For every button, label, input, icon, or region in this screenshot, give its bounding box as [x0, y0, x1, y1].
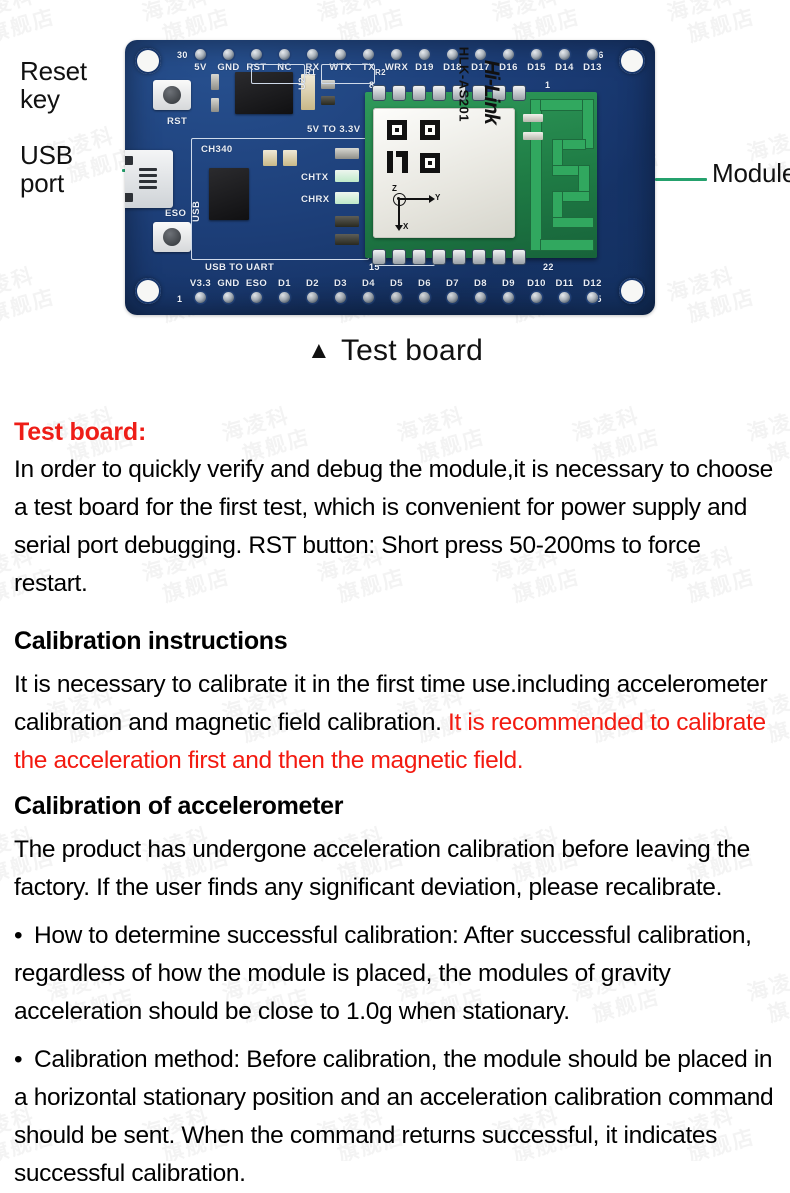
reset-button-rst[interactable] [153, 80, 191, 110]
module-part-number: HLK-AS201 [456, 47, 471, 122]
voltage-regulator-ic [235, 72, 293, 114]
pin-number-15: 15 [591, 294, 602, 304]
test-board-photo: Reset key USB port Module 30 16 1 15 5VG… [0, 0, 790, 325]
boot-button-eso[interactable] [153, 222, 191, 252]
module-pin [473, 86, 485, 100]
pin-label-eso: ESO [244, 278, 269, 289]
module-pin [433, 86, 445, 100]
module-component-2 [523, 132, 543, 140]
module-pin [393, 250, 405, 264]
pin-pad[interactable] [503, 292, 514, 303]
pin-label-rst: RST [244, 62, 269, 73]
module-pin [493, 86, 505, 100]
silk-label-eso: ESO [165, 208, 186, 219]
resistor-r8 [335, 216, 359, 227]
pin-pad[interactable] [223, 49, 234, 60]
resistor-r6 [321, 96, 335, 105]
bullet-text-2: Calibration method: Before calibration, … [14, 1046, 773, 1187]
pin-label-d4: D4 [356, 278, 381, 289]
pin-pad[interactable] [559, 49, 570, 60]
module-pin [373, 250, 385, 264]
silk-label-u2: U2 [297, 77, 308, 90]
callout-reset-key-line2: key [20, 86, 87, 114]
module-pin [413, 250, 425, 264]
pin-pad[interactable] [447, 292, 458, 303]
module-pin [413, 86, 425, 100]
pin-number-30: 30 [177, 50, 188, 60]
silk-label-state-led: STATE LED [437, 207, 448, 262]
hlk-as201-module: Hi-Link HLK-AS201 Y X Z [365, 92, 597, 258]
bullet-marker-2: • [14, 1041, 34, 1079]
bullet-text-1: How to determine successful calibration:… [14, 922, 752, 1025]
leader-line-module [655, 178, 707, 181]
silk-label-usb: USB [191, 201, 202, 222]
resistor-power [383, 128, 413, 139]
resistor-r9 [335, 234, 359, 245]
silk-label-chtx: CHTX [301, 172, 328, 183]
state-led-pin [447, 224, 457, 236]
pin-pad[interactable] [559, 292, 570, 303]
state-led-pin [447, 158, 457, 170]
silk-label-chrx: CHRX [301, 194, 330, 205]
axis-label-y: Y [435, 193, 440, 202]
silk-label-usb-to-uart: USB TO UART [205, 262, 274, 273]
pin-pad[interactable] [251, 292, 262, 303]
pin-label-wtx: WTX [328, 62, 353, 73]
axis-orientation-diagram: Y X Z [391, 184, 447, 230]
pin-label-d6: D6 [412, 278, 437, 289]
heading-test-board: Test board: [14, 418, 776, 447]
paragraph-calibration-instructions: It is necessary to calibrate it in the f… [14, 666, 776, 780]
pin-pad[interactable] [279, 292, 290, 303]
module-pin [513, 86, 525, 100]
callout-reset-key: Reset key [20, 58, 87, 113]
figure-caption-text: Test board [341, 334, 483, 367]
paragraph-test-board: In order to quickly verify and debug the… [14, 451, 776, 603]
silk-label-power: POWER [387, 96, 425, 107]
pin-pad[interactable] [363, 49, 374, 60]
module-pin [473, 250, 485, 264]
resistor-wifi [383, 184, 413, 195]
pin-label-gnd: GND [216, 278, 241, 289]
silk-label-sta: STA [393, 208, 413, 219]
led-chtx [335, 170, 359, 182]
axis-label-x: X [403, 222, 408, 231]
pin-label-d17: D17 [468, 62, 493, 73]
paragraph-accelerometer-intro: The product has undergone acceleration c… [14, 831, 776, 907]
led-chrx [335, 192, 359, 204]
pin-pad[interactable] [195, 49, 206, 60]
pin-pad[interactable] [587, 292, 598, 303]
pin-label-d19: D19 [412, 62, 437, 73]
module-pin-number-1: 1 [545, 80, 550, 90]
pcb-antenna [531, 100, 593, 250]
micro-usb-port[interactable] [125, 150, 173, 208]
mounting-hole-tl [135, 48, 161, 74]
pin-label-d9: D9 [496, 278, 521, 289]
callout-usb-port-line1: USB [20, 142, 73, 170]
pin-pad[interactable] [419, 292, 430, 303]
pin-pad[interactable] [335, 292, 346, 303]
callout-usb-port: USB port [20, 142, 73, 197]
pin-label-d1: D1 [272, 278, 297, 289]
pin-label-rx: RX [300, 62, 325, 73]
silk-label-wifi: WIFI [391, 152, 413, 163]
pin-label-d7: D7 [440, 278, 465, 289]
pin-pad[interactable] [307, 292, 318, 303]
pin-pad[interactable] [475, 292, 486, 303]
mounting-hole-br [619, 278, 645, 304]
pin-pad[interactable] [531, 292, 542, 303]
mounting-hole-bl [135, 278, 161, 304]
pin-pad[interactable] [363, 292, 374, 303]
module-pin [373, 86, 385, 100]
pin-number-16: 16 [593, 50, 604, 60]
pin-label-d2: D2 [300, 278, 325, 289]
bullet-item-1: •How to determine successful calibration… [14, 917, 776, 1031]
axis-label-z: Z [392, 184, 397, 193]
resistor-r5 [321, 80, 335, 89]
heading-calibration-instructions: Calibration instructions [14, 627, 776, 656]
pin-label-gnd: GND [216, 62, 241, 73]
pin-label-d10: D10 [524, 278, 549, 289]
module-pin-number-9: 9 [447, 96, 452, 106]
pin-label-nc: NC [272, 62, 297, 73]
pin-label-d14: D14 [552, 62, 577, 73]
pin-label-d15: D15 [524, 62, 549, 73]
resistor-r4 [211, 98, 219, 112]
module-pin [393, 86, 405, 100]
pin-label-5v: 5V [188, 62, 213, 73]
module-shield-can: Hi-Link HLK-AS201 Y X Z [373, 108, 515, 238]
callout-module: Module [712, 160, 790, 188]
module-component-1 [523, 114, 543, 122]
pcb-board: 30 16 1 15 5VGNDRSTNCRXWTXTXWRXD19D18D17… [125, 40, 655, 315]
led-sta [383, 224, 413, 236]
bullet-item-2: •Calibration method: Before calibration,… [14, 1041, 776, 1193]
capacitor-c1 [301, 74, 315, 110]
mounting-hole-tr [619, 48, 645, 74]
state-led-pin [447, 136, 457, 148]
pin-pad[interactable] [391, 292, 402, 303]
figure-caption: ▲Test board [0, 334, 790, 368]
pin-label-d8: D8 [468, 278, 493, 289]
module-pin-number-14: 14 [445, 226, 456, 236]
pin-pad[interactable] [223, 292, 234, 303]
module-pin [453, 250, 465, 264]
led-power [383, 112, 413, 124]
pin-label-d12: D12 [580, 278, 605, 289]
pin-label-d5: D5 [384, 278, 409, 289]
silk-label-r1: R1 [305, 68, 316, 77]
module-pin [433, 250, 445, 264]
product-manual-page: 海凌科旗舰店海凌科旗舰店海凌科旗舰店海凌科旗舰店海凌科旗舰店海凌科旗舰店海凌科旗… [0, 0, 790, 1161]
heading-calibration-of-accelerometer: Calibration of accelerometer [14, 792, 776, 821]
module-pin [453, 86, 465, 100]
module-pin-number-8: 8 [369, 80, 374, 90]
pin-label-d3: D3 [328, 278, 353, 289]
pin-pad[interactable] [447, 49, 458, 60]
pin-pad[interactable] [195, 292, 206, 303]
pin-pad[interactable] [503, 49, 514, 60]
state-led-pin [447, 114, 457, 126]
silk-label-r2: R2 [375, 68, 386, 77]
pin-pad[interactable] [587, 49, 598, 60]
pin-pad[interactable] [279, 49, 290, 60]
bullet-marker-1: • [14, 917, 34, 955]
capacitor-c3 [283, 150, 297, 166]
callout-usb-port-line2: port [20, 170, 73, 198]
led-wifi [383, 168, 413, 180]
capacitor-c2 [263, 150, 277, 166]
triangle-marker-icon: ▲ [307, 337, 331, 365]
module-pin [513, 250, 525, 264]
pin-pad[interactable] [391, 49, 402, 60]
silk-label-ch340: CH340 [201, 144, 233, 155]
manual-content: Test board: In order to quickly verify a… [14, 418, 776, 1193]
module-pin [493, 250, 505, 264]
qr-code [387, 120, 441, 174]
resistor-r7 [335, 148, 359, 159]
callout-reset-key-line1: Reset [20, 58, 87, 86]
module-pin-number-15: 15 [369, 262, 380, 272]
state-led-pin [447, 180, 457, 192]
pin-label-d16: D16 [496, 62, 521, 73]
pin-pad[interactable] [419, 49, 430, 60]
pin-pad[interactable] [475, 49, 486, 60]
silk-label-5v-to-33v: 5V TO 3.3V [307, 124, 360, 135]
resistor-r3 [211, 74, 219, 90]
pin-pad[interactable] [531, 49, 542, 60]
pin-number-1: 1 [177, 294, 182, 304]
pin-label-tx: TX [356, 62, 381, 73]
pin-label-v33: V3.3 [188, 278, 213, 289]
state-led-pin [447, 202, 457, 214]
pin-label-d18: D18 [440, 62, 465, 73]
module-brand-logo: Hi-Link [479, 60, 503, 124]
silk-label-rst: RST [167, 116, 187, 127]
resistor-sta [383, 240, 413, 251]
ch340-ic [209, 168, 249, 220]
pin-pad[interactable] [335, 49, 346, 60]
pin-label-d11: D11 [552, 278, 577, 289]
pin-label-d13: D13 [580, 62, 605, 73]
module-pin-number-22: 22 [543, 262, 554, 272]
pin-label-wrx: WRX [384, 62, 409, 73]
pin-pad[interactable] [307, 49, 318, 60]
pin-pad[interactable] [251, 49, 262, 60]
